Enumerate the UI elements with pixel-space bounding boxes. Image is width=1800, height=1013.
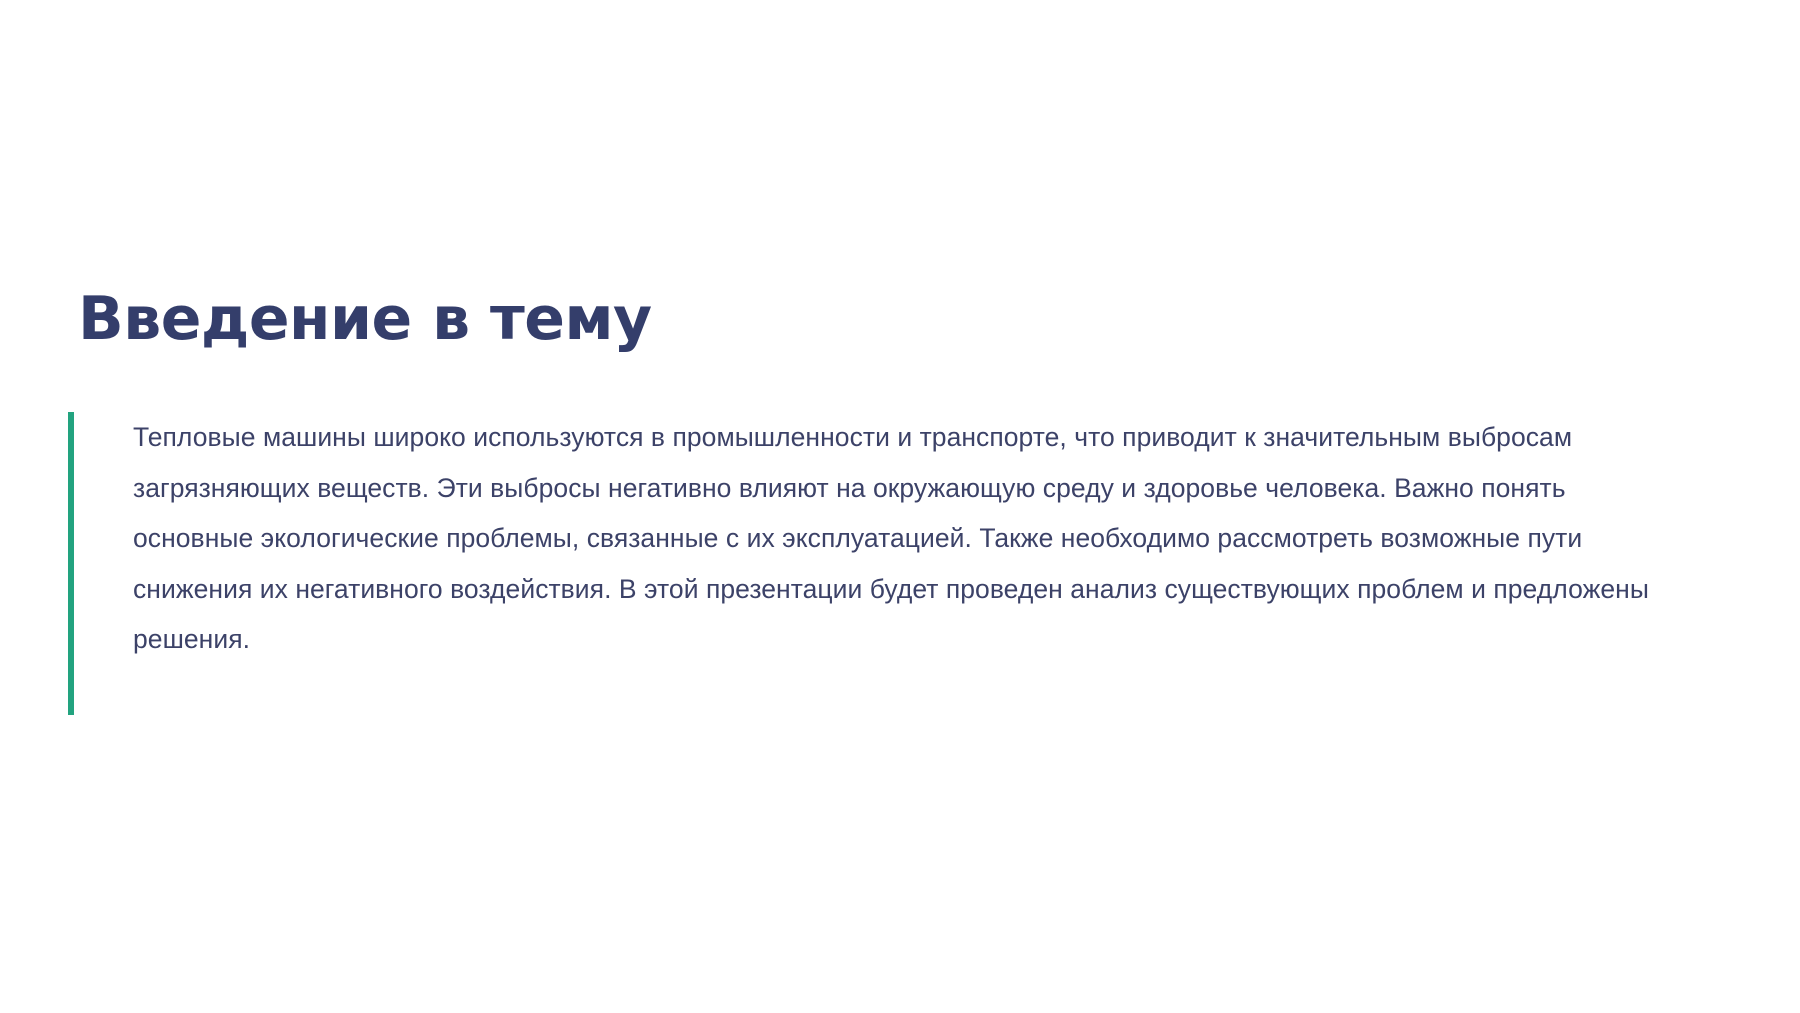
page-title: Введение в тему (78, 288, 652, 351)
body-paragraph: Тепловые машины широко используются в пр… (74, 412, 1728, 715)
body-quote-block: Тепловые машины широко используются в пр… (68, 412, 1728, 715)
presentation-slide: Введение в тему Тепловые машины широко и… (0, 0, 1800, 1013)
slide-content-area: Введение в тему Тепловые машины широко и… (0, 0, 1800, 1013)
